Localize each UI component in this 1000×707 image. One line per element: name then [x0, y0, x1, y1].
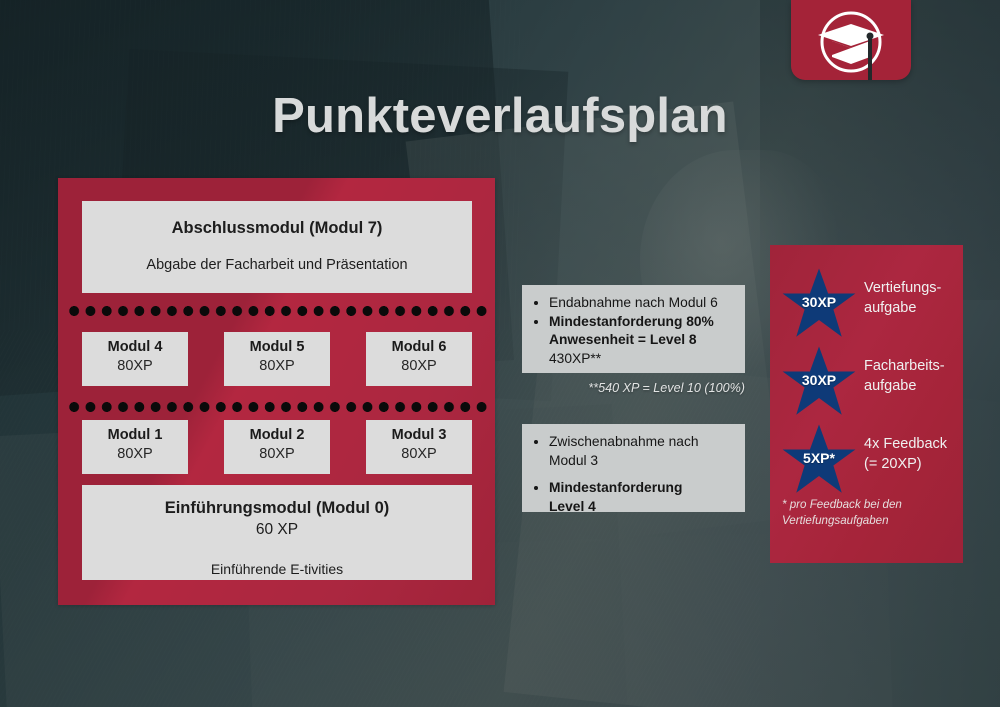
module-box: Modul 3 80XP — [366, 420, 472, 474]
legend-label: Facharbeits-aufgabe — [864, 356, 960, 396]
module-xp: 80XP — [366, 358, 472, 374]
star-badge: 30XP — [780, 267, 858, 339]
legend-row: 30XP Facharbeits-aufgabe — [780, 345, 960, 417]
module-row-top: Modul 4 80XP Modul 5 80XP Modul 6 80XP — [82, 332, 472, 386]
star-xp-label: 30XP — [780, 294, 858, 310]
module-xp: 80XP — [82, 358, 188, 374]
info-box-interim-assessment: Zwischenabnahme nach Modul 3 Mindestanfo… — [522, 424, 745, 512]
module-title: Modul 3 — [366, 427, 472, 443]
module-title: Modul 1 — [82, 427, 188, 443]
info-bullet-continuation: Modul 3 — [522, 452, 745, 471]
legend-row: 30XP Vertiefungs-aufgabe — [780, 267, 960, 339]
logo — [791, 0, 911, 80]
module-box: Modul 1 80XP — [82, 420, 188, 474]
star-badge: 30XP — [780, 345, 858, 417]
page-title: Punkteverlaufsplan — [0, 88, 1000, 144]
module-title: Modul 5 — [224, 339, 330, 355]
graduation-cap-icon — [791, 0, 911, 80]
info-bullet: Mindestanforderung 80% — [549, 313, 735, 332]
module-title: Modul 2 — [224, 427, 330, 443]
intro-module-subtitle: Einführende E-tivities — [82, 561, 472, 577]
star-badge: 5XP* — [780, 423, 858, 495]
dotted-divider-lower — [66, 402, 490, 412]
info-bullet: Zwischenabnahme nach — [549, 433, 735, 452]
final-module-box: Abschlussmodul (Modul 7) Abgabe der Fach… — [82, 201, 472, 293]
xp-legend-panel: 30XP Vertiefungs-aufgabe 30XP Facharbeit… — [770, 245, 963, 563]
info-box-final-assessment: Endabnahme nach Modul 6 Mindestanforderu… — [522, 285, 745, 373]
info-bullet: Mindestanforderung — [549, 479, 735, 498]
module-xp: 80XP — [82, 446, 188, 462]
star-xp-label: 5XP* — [780, 450, 858, 466]
module-xp: 80XP — [224, 446, 330, 462]
legend-label: 4x Feedback(= 20XP) — [864, 434, 960, 474]
module-plan-panel: Abschlussmodul (Modul 7) Abgabe der Fach… — [58, 178, 495, 605]
star-xp-label: 30XP — [780, 372, 858, 388]
module-box: Modul 4 80XP — [82, 332, 188, 386]
legend-row: 5XP* 4x Feedback(= 20XP) — [780, 423, 960, 495]
module-box: Modul 2 80XP — [224, 420, 330, 474]
module-row-bottom: Modul 1 80XP Modul 2 80XP Modul 3 80XP — [82, 420, 472, 474]
module-xp: 80XP — [224, 358, 330, 374]
intro-module-box: Einführungsmodul (Modul 0) 60 XP Einführ… — [82, 485, 472, 580]
module-box: Modul 5 80XP — [224, 332, 330, 386]
module-title: Modul 4 — [82, 339, 188, 355]
dotted-divider-upper — [66, 306, 490, 316]
intro-module-xp: 60 XP — [82, 521, 472, 539]
info-bullet-continuation: Anwesenheit = Level 8 — [522, 331, 745, 350]
final-module-title: Abschlussmodul (Modul 7) — [82, 219, 472, 238]
feedback-footnote: * pro Feedback bei den Vertiefungsaufgab… — [782, 497, 947, 529]
module-xp: 80XP — [366, 446, 472, 462]
legend-label: Vertiefungs-aufgabe — [864, 278, 960, 318]
final-module-subtitle: Abgabe der Facharbeit und Präsentation — [82, 257, 472, 273]
info-bullet-subtext: 430XP** — [522, 350, 745, 369]
module-box: Modul 6 80XP — [366, 332, 472, 386]
intro-module-title: Einführungsmodul (Modul 0) — [82, 499, 472, 518]
xp-level-footnote: **540 XP = Level 10 (100%) — [522, 381, 745, 395]
module-title: Modul 6 — [366, 339, 472, 355]
info-bullet-continuation: Level 4 — [522, 498, 745, 517]
info-bullet: Endabnahme nach Modul 6 — [549, 294, 735, 313]
